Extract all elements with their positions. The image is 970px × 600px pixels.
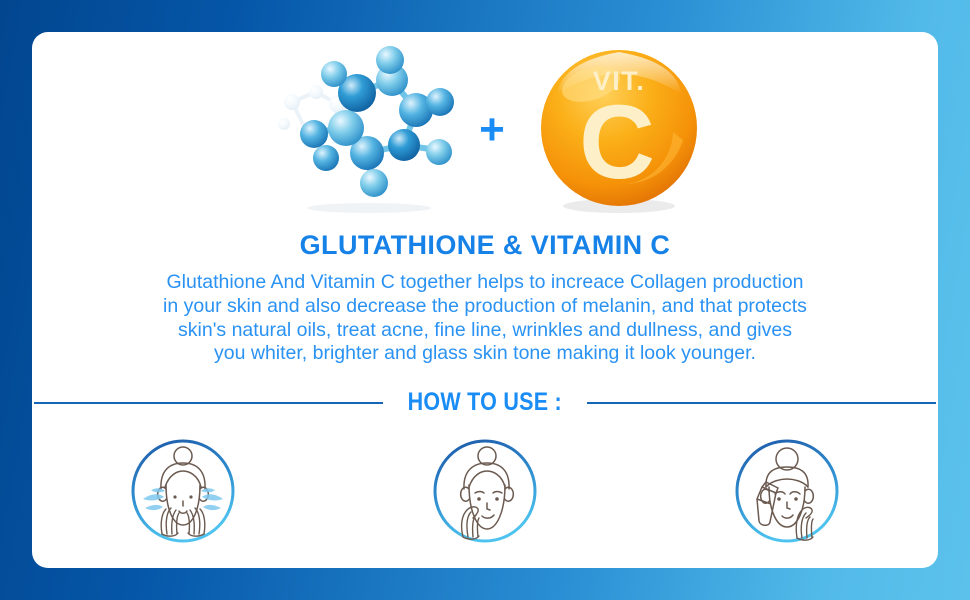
- how-to-use-divider: HOW TO USE :: [32, 388, 938, 417]
- face-sunscreen-icon: [733, 437, 841, 545]
- plus-icon: +: [472, 110, 512, 150]
- divider-line-left: [34, 402, 383, 404]
- step-caption-1: 1. Cleanse & Pat dry your skin: [53, 566, 313, 568]
- step-3-line-1: 3. Follow up with minimum: [657, 566, 917, 568]
- description-line-3: skin's natural oils, treat acne, fine li…: [58, 319, 912, 343]
- step-caption-2: 2. Apply a thin layer of serum on affect…: [355, 566, 615, 568]
- step-caption-3: 3. Follow up with minimum SPF 30 sun pro…: [657, 566, 917, 568]
- molecule-atoms: [300, 46, 454, 197]
- steps-list: 1. Cleanse & Pat dry your skin: [32, 437, 938, 568]
- vitamin-letter: C: [579, 84, 655, 201]
- description-line-4: you whiter, brighter and glass skin tone…: [58, 342, 912, 366]
- step-item-1: 1. Cleanse & Pat dry your skin: [53, 437, 313, 568]
- page-title: GLUTATHIONE & VITAMIN C: [32, 230, 938, 261]
- content-card: +: [32, 32, 938, 568]
- hero-graphics: +: [32, 32, 938, 222]
- step-item-3: 3. Follow up with minimum SPF 30 sun pro…: [657, 437, 917, 568]
- description-line-1: Glutathione And Vitamin C together helps…: [58, 271, 912, 295]
- divider-line-right: [587, 402, 936, 404]
- step-item-2: 2. Apply a thin layer of serum on affect…: [355, 437, 615, 568]
- how-to-use-heading: HOW TO USE :: [397, 388, 572, 417]
- description: Glutathione And Vitamin C together helps…: [32, 271, 938, 366]
- molecule-icon: [264, 40, 474, 215]
- face-apply-serum-icon: [431, 437, 539, 545]
- description-line-2: in your skin and also decrease the produ…: [58, 295, 912, 319]
- step-2-line-1: 2. Apply a thin layer: [355, 566, 615, 568]
- banner-frame: +: [0, 0, 970, 600]
- step-1-line-1: 1. Cleanse &: [53, 566, 313, 568]
- face-cleanse-icon: [129, 437, 237, 545]
- vitamin-c-sphere-icon: VIT. C: [527, 36, 712, 221]
